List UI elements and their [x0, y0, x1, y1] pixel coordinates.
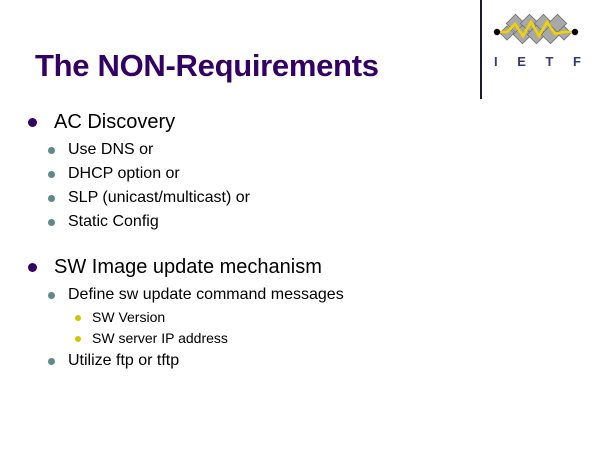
slide: I E T F The NON-Requirements AC Discover…: [0, 0, 600, 450]
bullet-level2: DHCP option or: [48, 162, 480, 186]
ietf-letter-t: T: [545, 54, 553, 69]
bullet-dot-level2-icon: [48, 171, 55, 178]
bullet-level3: SW server IP address: [75, 328, 480, 349]
ietf-diamonds-icon: [491, 12, 589, 52]
bullet-label: SW Image update mechanism: [54, 253, 322, 281]
bullet-level2: Define sw update command messages: [48, 283, 480, 307]
bullet-dot-level2-icon: [48, 195, 55, 202]
bullet-level1: SW Image update mechanism: [28, 253, 480, 281]
bullet-dot-level2-icon: [48, 292, 55, 299]
ietf-letter-i: I: [494, 54, 498, 69]
bullet-level3: SW Version: [75, 307, 480, 328]
bullet-dot-level1-icon: [28, 118, 37, 127]
ietf-letter-f: F: [573, 54, 581, 69]
bullet-label: Define sw update command messages: [68, 283, 344, 307]
bullet-dot-level1-icon: [28, 263, 37, 272]
bullet-dot-level3-icon: [75, 315, 81, 321]
ietf-logo-mark: [491, 12, 589, 52]
bullet-level2: SLP (unicast/multicast) or: [48, 186, 480, 210]
slide-title: The NON-Requirements: [35, 48, 379, 84]
bullet-label: DHCP option or: [68, 162, 180, 186]
bullet-dot-level2-icon: [48, 358, 55, 365]
bullet-level1: AC Discovery: [28, 108, 480, 136]
bullet-label: Use DNS or: [68, 138, 153, 162]
bullet-level2: Use DNS or: [48, 138, 480, 162]
bullet-label: SLP (unicast/multicast) or: [68, 186, 250, 210]
bullet-label: Utilize ftp or tftp: [68, 349, 179, 373]
header-divider: [480, 0, 482, 99]
bullet-dot-level2-icon: [48, 219, 55, 226]
bullet-dot-level3-icon: [75, 336, 81, 342]
ietf-logo: I E T F: [491, 12, 589, 74]
bullet-label: SW server IP address: [92, 328, 228, 349]
bullet-label: Static Config: [68, 210, 159, 234]
ietf-logo-letters: I E T F: [491, 54, 584, 69]
ietf-letter-e: E: [517, 54, 526, 69]
bullet-level2: Static Config: [48, 210, 480, 234]
bullet-label: AC Discovery: [54, 108, 175, 136]
bullet-dot-level2-icon: [48, 147, 55, 154]
slide-body: AC Discovery Use DNS or DHCP option or S…: [0, 108, 480, 373]
bullet-label: SW Version: [92, 307, 165, 328]
bullet-level2: Utilize ftp or tftp: [48, 349, 480, 373]
